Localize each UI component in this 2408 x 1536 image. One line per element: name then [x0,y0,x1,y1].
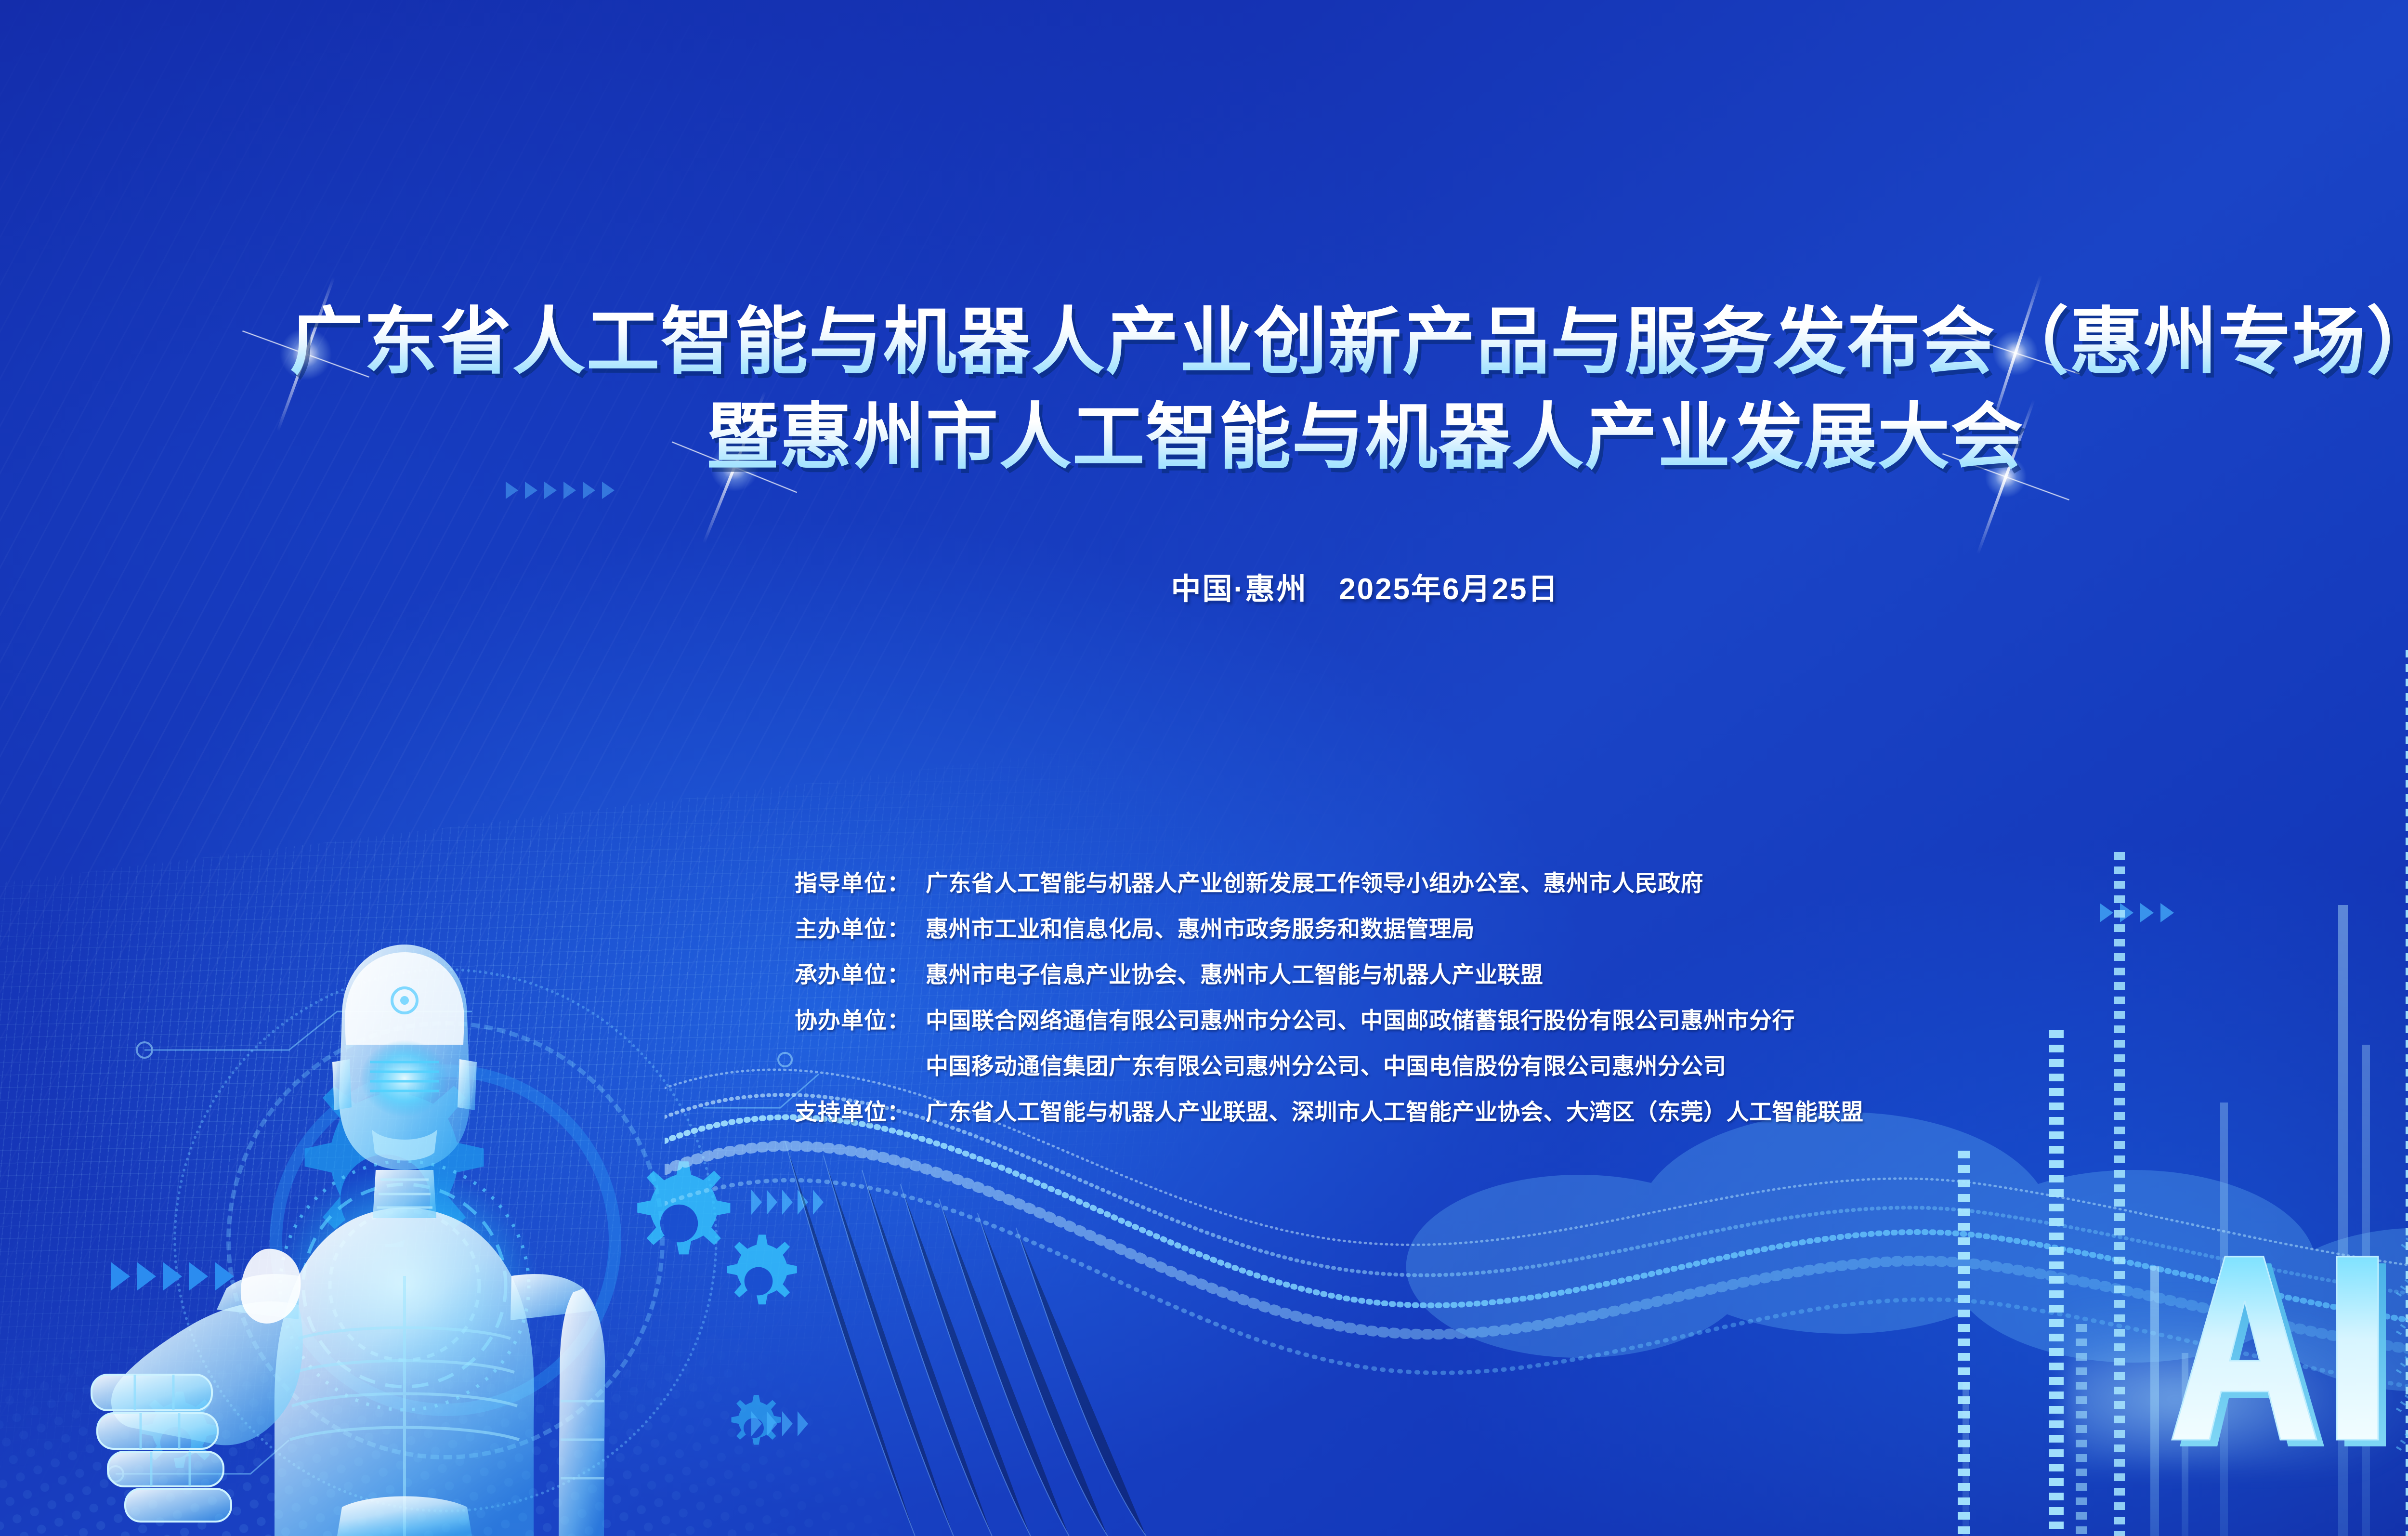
organizer-label: 指导单位： [795,865,926,898]
list-item: 承办单位： 惠州市电子信息产业协会、惠州市人工智能与机器人产业联盟 [795,956,1864,1002]
list-item: 中国移动通信集团广东有限公司惠州分公司、中国电信股份有限公司惠州分公司 [795,1048,1864,1093]
chevron-arrows-icon [506,482,615,499]
equalizer-bar [2076,1324,2087,1536]
organizer-list: 指导单位： 广东省人工智能与机器人产业创新发展工作领导小组办公室、惠州市人民政府… [795,865,1864,1139]
organizer-value: 惠州市工业和信息化局、惠州市政务服务和数据管理局 [926,910,1475,944]
organizer-label: 承办单位： [795,956,926,989]
organizer-value: 惠州市电子信息产业协会、惠州市人工智能与机器人产业联盟 [926,956,1544,989]
equalizer-bar [2150,1266,2159,1536]
page-title-line-1: 广东省人工智能与机器人产业创新产品与服务发布会（惠州专场） [0,295,2408,390]
list-item: 主办单位： 惠州市工业和信息化局、惠州市政务服务和数据管理局 [795,910,1864,956]
list-item: 指导单位： 广东省人工智能与机器人产业创新发展工作领导小组办公室、惠州市人民政府 [795,865,1864,910]
ai-logo [2167,1247,2408,1449]
organizer-label: 协办单位： [795,1002,926,1035]
title-block: 广东省人工智能与机器人产业创新产品与服务发布会（惠州专场） 暨惠州市人工智能与机… [0,295,2408,484]
organizer-value: 广东省人工智能与机器人产业联盟、深圳市人工智能产业协会、大湾区（东莞）人工智能联… [926,1093,1864,1127]
organizer-value: 中国移动通信集团广东有限公司惠州分公司、中国电信股份有限公司惠州分公司 [926,1048,1727,1081]
page-title-line-2: 暨惠州市人工智能与机器人产业发展大会 [0,390,2408,484]
chevron-arrows-icon [2100,903,2174,922]
event-poster: 广东省人工智能与机器人产业创新产品与服务发布会（惠州专场） 暨惠州市人工智能与机… [0,0,2408,1536]
humanoid-robot-illustration [72,939,718,1536]
list-item: 支持单位： 广东省人工智能与机器人产业联盟、深圳市人工智能产业协会、大湾区（东莞… [795,1093,1864,1139]
equalizer-bar [1963,1382,1969,1536]
list-item: 协办单位： 中国联合网络通信有限公司惠州市分公司、中国邮政储蓄银行股份有限公司惠… [795,1002,1864,1048]
organizer-value: 中国联合网络通信有限公司惠州市分公司、中国邮政储蓄银行股份有限公司惠州市分行 [926,1002,1795,1035]
equalizer-bar [2049,1030,2064,1536]
organizer-label: 支持单位： [795,1093,926,1127]
organizer-label: 主办单位： [795,910,926,944]
equalizer-bar [2114,852,2125,1536]
date-location-line: 中国·惠州 2025年6月25日 [0,565,2408,608]
organizer-value: 广东省人工智能与机器人产业创新发展工作领导小组办公室、惠州市人民政府 [926,865,1703,898]
